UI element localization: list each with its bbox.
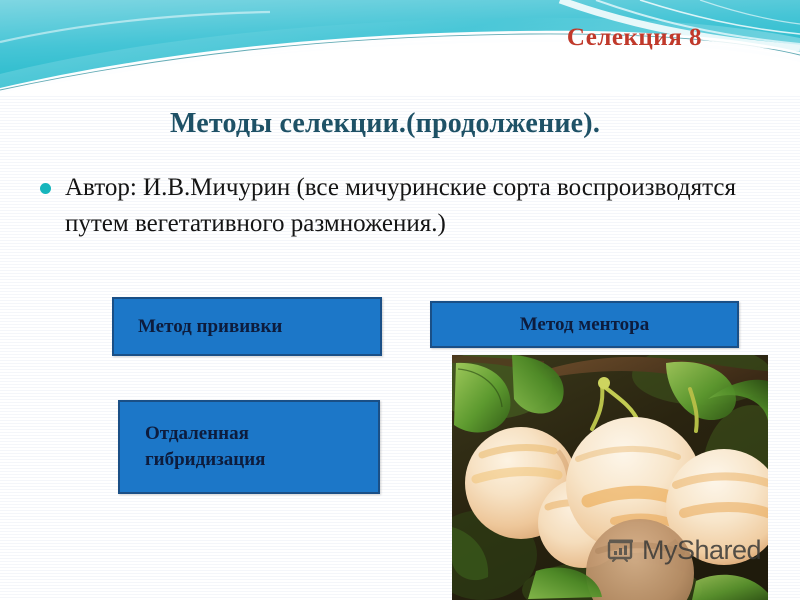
method-box-mentor-label: Метод ментора	[520, 312, 649, 338]
bullet-dot-icon	[40, 183, 51, 194]
section-label: Селекция 8	[0, 24, 702, 52]
method-box-grafting: Метод прививки	[112, 297, 382, 356]
bullet-text: Автор: И.В.Мичурин (все мичуринские сорт…	[65, 170, 770, 241]
method-box-grafting-label: Метод прививки	[138, 314, 282, 340]
method-box-mentor: Метод ментора	[430, 301, 739, 348]
page-title: Методы селекции.(продолжение).	[0, 108, 770, 140]
bullet-paragraph: Автор: И.В.Мичурин (все мичуринские сорт…	[40, 170, 770, 241]
plum-photo	[452, 355, 768, 600]
method-box-hybridization-label: Отдаленная гибридизация	[145, 421, 265, 472]
presentation-slide: Селекция 8 Методы селекции.(продолжение)…	[0, 0, 800, 600]
method-box-hybridization: Отдаленная гибридизация	[118, 400, 380, 494]
